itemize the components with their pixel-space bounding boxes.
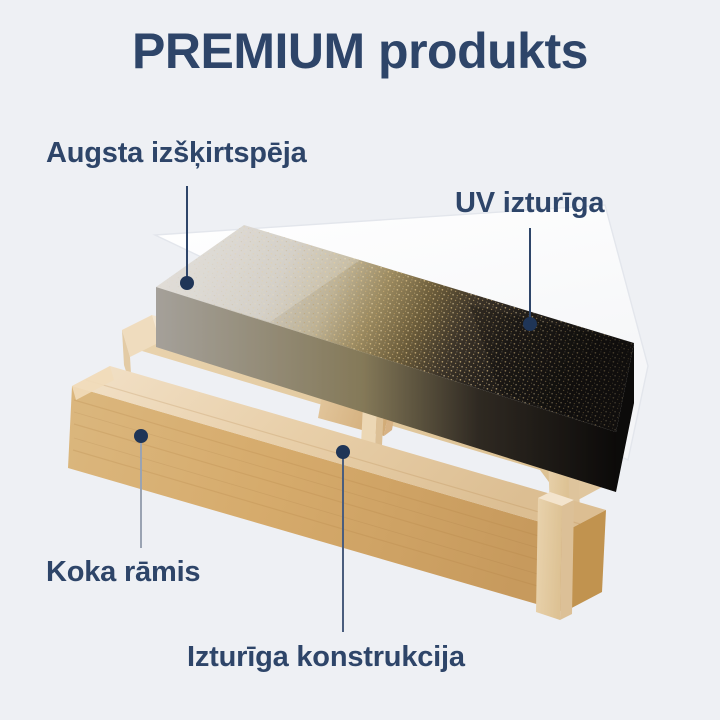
product-feature-graphic: PREMIUM produkts Augsta izšķirtspēja UV …	[0, 0, 720, 720]
exploded-product-illustration	[0, 0, 720, 720]
page-title: PREMIUM produkts	[132, 26, 588, 76]
feature-label-resolution: Augsta izšķirtspēja	[46, 139, 307, 168]
feature-label-uv-resistant: UV izturīga	[455, 189, 604, 218]
frame-end-post-right	[536, 492, 574, 620]
leader-dot-uv	[523, 317, 537, 331]
feature-label-durable-construction: Izturīga konstrukcija	[187, 643, 465, 672]
leader-dot-construction	[336, 445, 350, 459]
feature-label-wooden-frame: Koka rāmis	[46, 558, 200, 587]
leader-dot-resolution	[180, 276, 194, 290]
leader-dot-frame	[134, 429, 148, 443]
